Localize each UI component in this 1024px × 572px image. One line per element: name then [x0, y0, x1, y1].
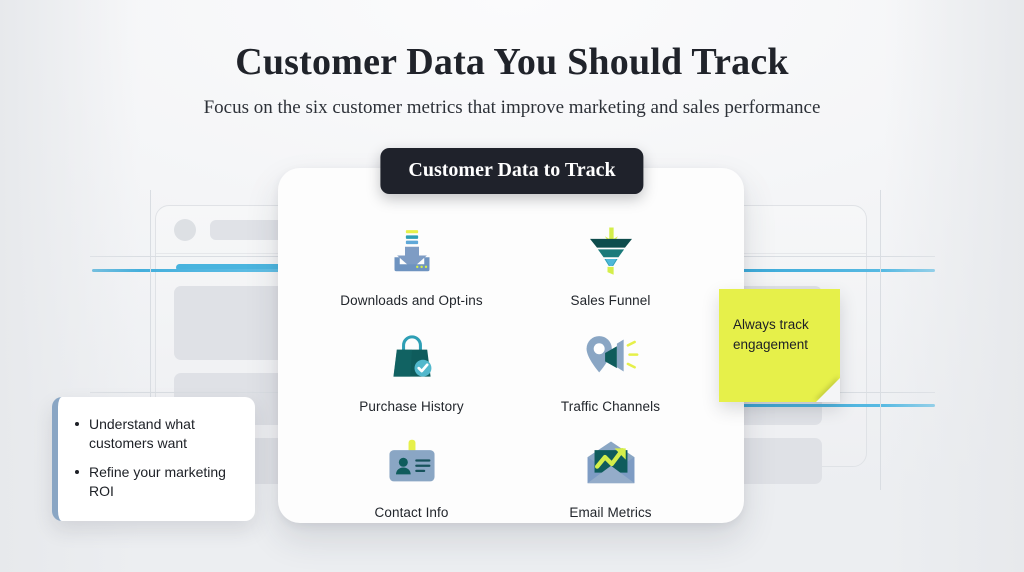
metric-label: Email Metrics — [569, 505, 651, 520]
metrics-card: Downloads and Opt-ins Sales Funnel — [278, 168, 744, 523]
metric-item-traffic-channels[interactable]: Traffic Channels — [511, 326, 710, 414]
metric-item-email-metrics[interactable]: Email Metrics — [511, 432, 710, 520]
metric-label: Contact Info — [375, 505, 449, 520]
page-subtitle: Focus on the six customer metrics that i… — [0, 97, 1024, 119]
funnel-icon — [583, 220, 639, 284]
metric-item-downloads-and-opt-ins[interactable]: Downloads and Opt-ins — [312, 220, 511, 308]
metric-label: Purchase History — [359, 399, 463, 414]
background-accent-line — [735, 269, 935, 272]
metric-label: Traffic Channels — [561, 399, 660, 414]
metric-item-purchase-history[interactable]: Purchase History — [312, 326, 511, 414]
id-card-icon — [384, 432, 440, 496]
metrics-grid: Downloads and Opt-ins Sales Funnel — [312, 220, 710, 501]
pin-megaphone-icon — [582, 326, 640, 390]
sticky-note-fold-corner — [816, 378, 840, 402]
sticky-note: Always track engagement — [719, 289, 840, 402]
takeaways-list: Understand what customers want Refine yo… — [74, 415, 241, 500]
metric-label: Sales Funnel — [571, 293, 651, 308]
metric-item-sales-funnel[interactable]: Sales Funnel — [511, 220, 710, 308]
background-accent-line — [92, 269, 282, 272]
page-title: Customer Data You Should Track — [0, 40, 1024, 84]
list-item: Refine your marketing ROI — [74, 463, 241, 500]
shopping-bag-check-icon — [385, 326, 439, 390]
wireframe-dot-icon — [174, 219, 196, 241]
envelope-chart-icon — [582, 432, 640, 496]
background-accent-line — [735, 404, 935, 407]
download-tray-icon — [384, 220, 440, 284]
sticky-note-text: Always track engagement — [733, 315, 826, 354]
list-item: Understand what customers want — [74, 415, 241, 452]
metric-label: Downloads and Opt-ins — [340, 293, 482, 308]
takeaways-card: Understand what customers want Refine yo… — [52, 397, 255, 521]
background-rule-vertical — [880, 190, 881, 490]
metric-item-contact-info[interactable]: Contact Info — [312, 432, 511, 520]
card-title-badge: Customer Data to Track — [380, 148, 643, 194]
header: Customer Data You Should Track Focus on … — [0, 40, 1024, 119]
